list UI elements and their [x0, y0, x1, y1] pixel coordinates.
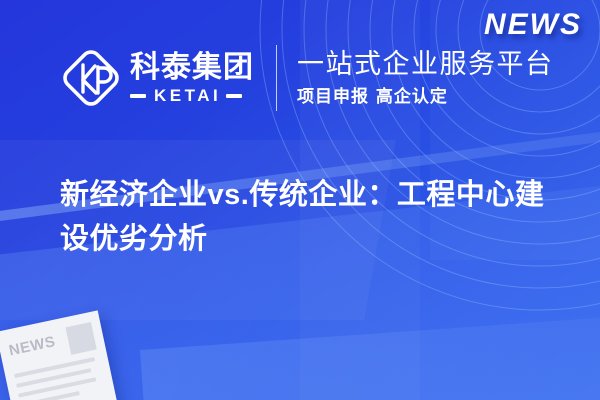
brand-name-en: KETAI — [146, 87, 226, 104]
dash-left-icon — [130, 94, 146, 98]
news-banner: NEWS — [0, 0, 600, 400]
ketai-diamond-kp-monogram-icon — [62, 47, 120, 109]
brand-name-en-row: KETAI — [130, 87, 254, 104]
brand-logo-text: 科泰集团 KETAI — [130, 52, 254, 104]
brand-name-cn: 科泰集团 — [130, 52, 254, 84]
headline-title: 新经济企业vs.传统企业：工程中心建设优劣分析 — [60, 173, 560, 261]
brand-slogan: 一站式企业服务平台 项目申报 高企认定 — [297, 49, 554, 107]
brand-logo[interactable]: 科泰集团 KETAI — [62, 47, 254, 109]
newspaper-illustration: NEWS — [0, 310, 120, 400]
news-badge: NEWS — [484, 8, 582, 42]
slogan-primary: 一站式企业服务平台 — [297, 49, 554, 80]
banner-header: 科泰集团 KETAI 一站式企业服务平台 项目申报 高企认定 — [62, 40, 554, 116]
dash-right-icon — [226, 94, 242, 98]
background-diagonal-sweep-secondary — [140, 308, 600, 400]
slogan-secondary: 项目申报 高企认定 — [297, 87, 554, 107]
newspaper-thumbnail-icon — [65, 322, 96, 355]
header-divider — [276, 45, 277, 111]
newspaper-masthead: NEWS — [7, 330, 57, 358]
